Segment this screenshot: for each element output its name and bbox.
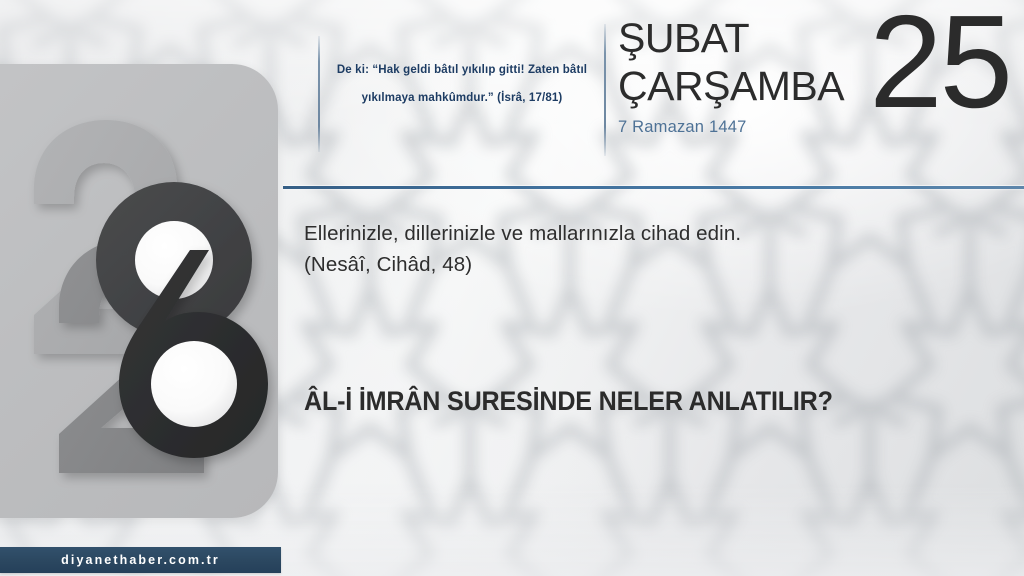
day-number: 25 (869, 0, 1010, 128)
date-weekday-label: ÇARŞAMBA (618, 66, 858, 107)
hadith-body: Ellerinizle, dillerinizle ve mallarınızl… (304, 218, 964, 280)
calendar-card-screenshot: De ki: “Hak geldi bâtıl yıkılıp gitti! Z… (0, 0, 1024, 576)
date-month-label: ŞUBAT (618, 18, 858, 59)
quote-vertical-rule (318, 36, 320, 152)
verse-quote-line-1: De ki: “Hak geldi bâtıl yıkılıp gitti! Z… (334, 56, 590, 84)
date-group: ŞUBAT ÇARŞAMBA 7 Ramazan 1447 (618, 18, 858, 137)
verse-quote-line-2: yıkılmaya mahkûmdur.” (İsrâ, 17/81) (334, 84, 590, 112)
hadith-text-line: Ellerinizle, dillerinizle ve mallarınızl… (304, 218, 964, 249)
verse-quote-block: De ki: “Hak geldi bâtıl yıkılıp gitti! Z… (334, 56, 590, 112)
headline: ÂL-İ İMRÂN SURESİNDE NELER ANLATILIR? (304, 386, 955, 417)
date-vertical-rule (604, 24, 606, 156)
year-2026-logo (14, 96, 278, 466)
horizontal-divider (283, 186, 1024, 189)
site-url-text: diyanethaber.com.tr (61, 553, 220, 567)
hadith-source-line: (Nesâî, Cihâd, 48) (304, 249, 964, 280)
date-hijri-label: 7 Ramazan 1447 (618, 118, 858, 137)
site-url-bar[interactable]: diyanethaber.com.tr (0, 547, 281, 573)
